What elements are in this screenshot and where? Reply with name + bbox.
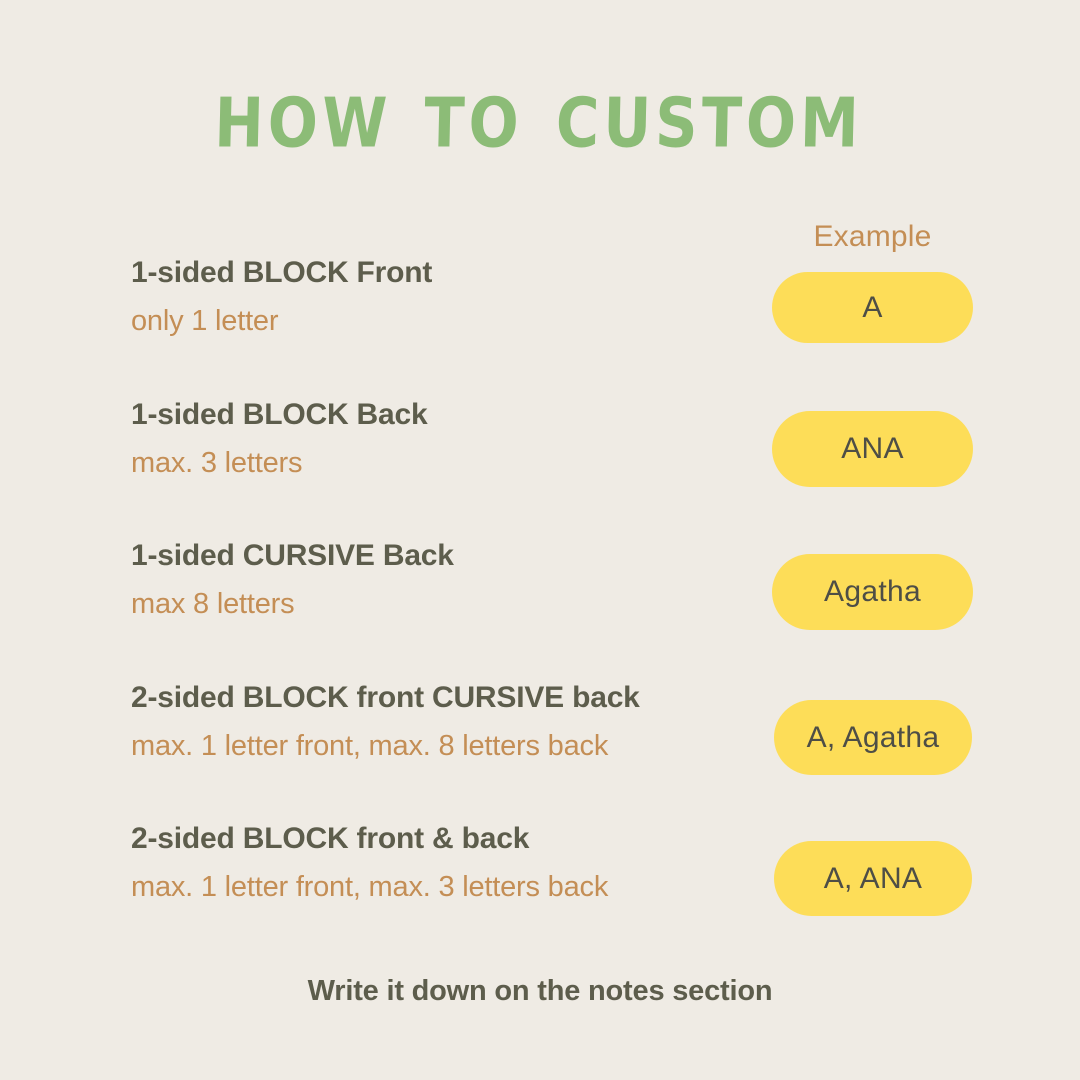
footer-note: Write it down on the notes section: [0, 975, 1080, 1008]
row-text-block: 2-sided BLOCK front CURSIVE back max. 1 …: [131, 683, 761, 761]
example-pill-text: Agatha: [824, 577, 921, 607]
example-pill-text: A, Agatha: [807, 723, 940, 753]
option-subtitle: max. 3 letters: [131, 449, 761, 478]
example-pill-text: A: [862, 293, 882, 323]
row-text-block: 1-sided CURSIVE Back max 8 letters: [131, 541, 761, 619]
option-heading: 1-sided BLOCK Back: [131, 400, 761, 430]
example-pill: Agatha: [772, 554, 973, 630]
option-heading: 2-sided BLOCK front CURSIVE back: [131, 683, 761, 713]
example-pill-text: ANA: [841, 434, 904, 464]
option-subtitle: only 1 letter: [131, 307, 761, 336]
option-subtitle: max. 1 letter front, max. 8 letters back: [131, 732, 761, 761]
option-heading: 1-sided BLOCK Front: [131, 258, 761, 288]
option-heading: 1-sided CURSIVE Back: [131, 541, 761, 571]
option-subtitle: max 8 letters: [131, 590, 761, 619]
row-text-block: 1-sided BLOCK Back max. 3 letters: [131, 400, 761, 478]
example-pill: A: [772, 272, 973, 343]
example-pill-text: A, ANA: [824, 864, 923, 894]
example-pill: A, Agatha: [774, 700, 972, 775]
options-list: 1-sided BLOCK Front only 1 letter A 1-si…: [0, 0, 1080, 1080]
example-pill: A, ANA: [774, 841, 972, 916]
option-subtitle: max. 1 letter front, max. 3 letters back: [131, 873, 761, 902]
poster-canvas: How to Custom Example 1-sided BLOCK Fron…: [0, 0, 1080, 1080]
example-pill: ANA: [772, 411, 973, 487]
row-text-block: 2-sided BLOCK front & back max. 1 letter…: [131, 824, 761, 902]
row-text-block: 1-sided BLOCK Front only 1 letter: [131, 258, 761, 336]
option-heading: 2-sided BLOCK front & back: [131, 824, 761, 854]
